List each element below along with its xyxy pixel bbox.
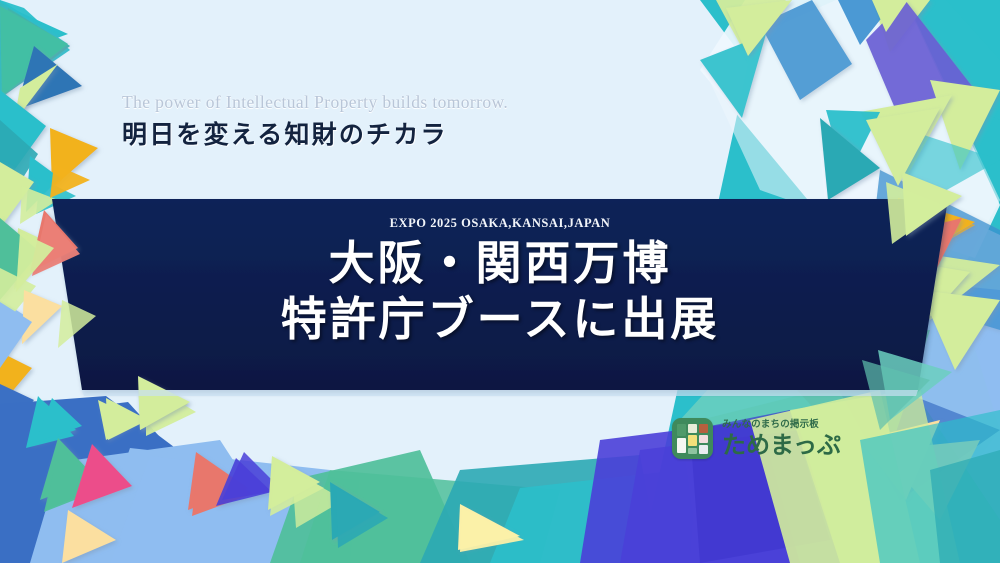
bulletin-board-icon	[672, 418, 713, 459]
tagline-japanese: 明日を変える知財のチカラ	[122, 119, 508, 152]
poster-canvas: The power of Intellectual Property build…	[0, 0, 1000, 563]
headline-line-1: 大阪・関西万博	[329, 238, 672, 290]
tagline-block: The power of Intellectual Property build…	[122, 92, 508, 151]
brand-tagline: みんなのまちの掲示板	[722, 420, 841, 430]
expo-eyebrow: EXPO 2025 OSAKA,KANSAI,JAPAN	[390, 216, 611, 231]
brand-name: ためまっぷ	[722, 433, 841, 457]
tagline-english: The power of Intellectual Property build…	[122, 92, 508, 114]
announcement-banner: EXPO 2025 OSAKA,KANSAI,JAPAN 大阪・関西万博 特許庁…	[0, 196, 1000, 394]
brand-text-block: みんなのまちの掲示板 ためまっぷ	[722, 420, 841, 457]
brand-logo[interactable]: みんなのまちの掲示板 ためまっぷ	[672, 418, 841, 459]
headline-line-2: 特許庁ブースに出展	[281, 294, 720, 346]
